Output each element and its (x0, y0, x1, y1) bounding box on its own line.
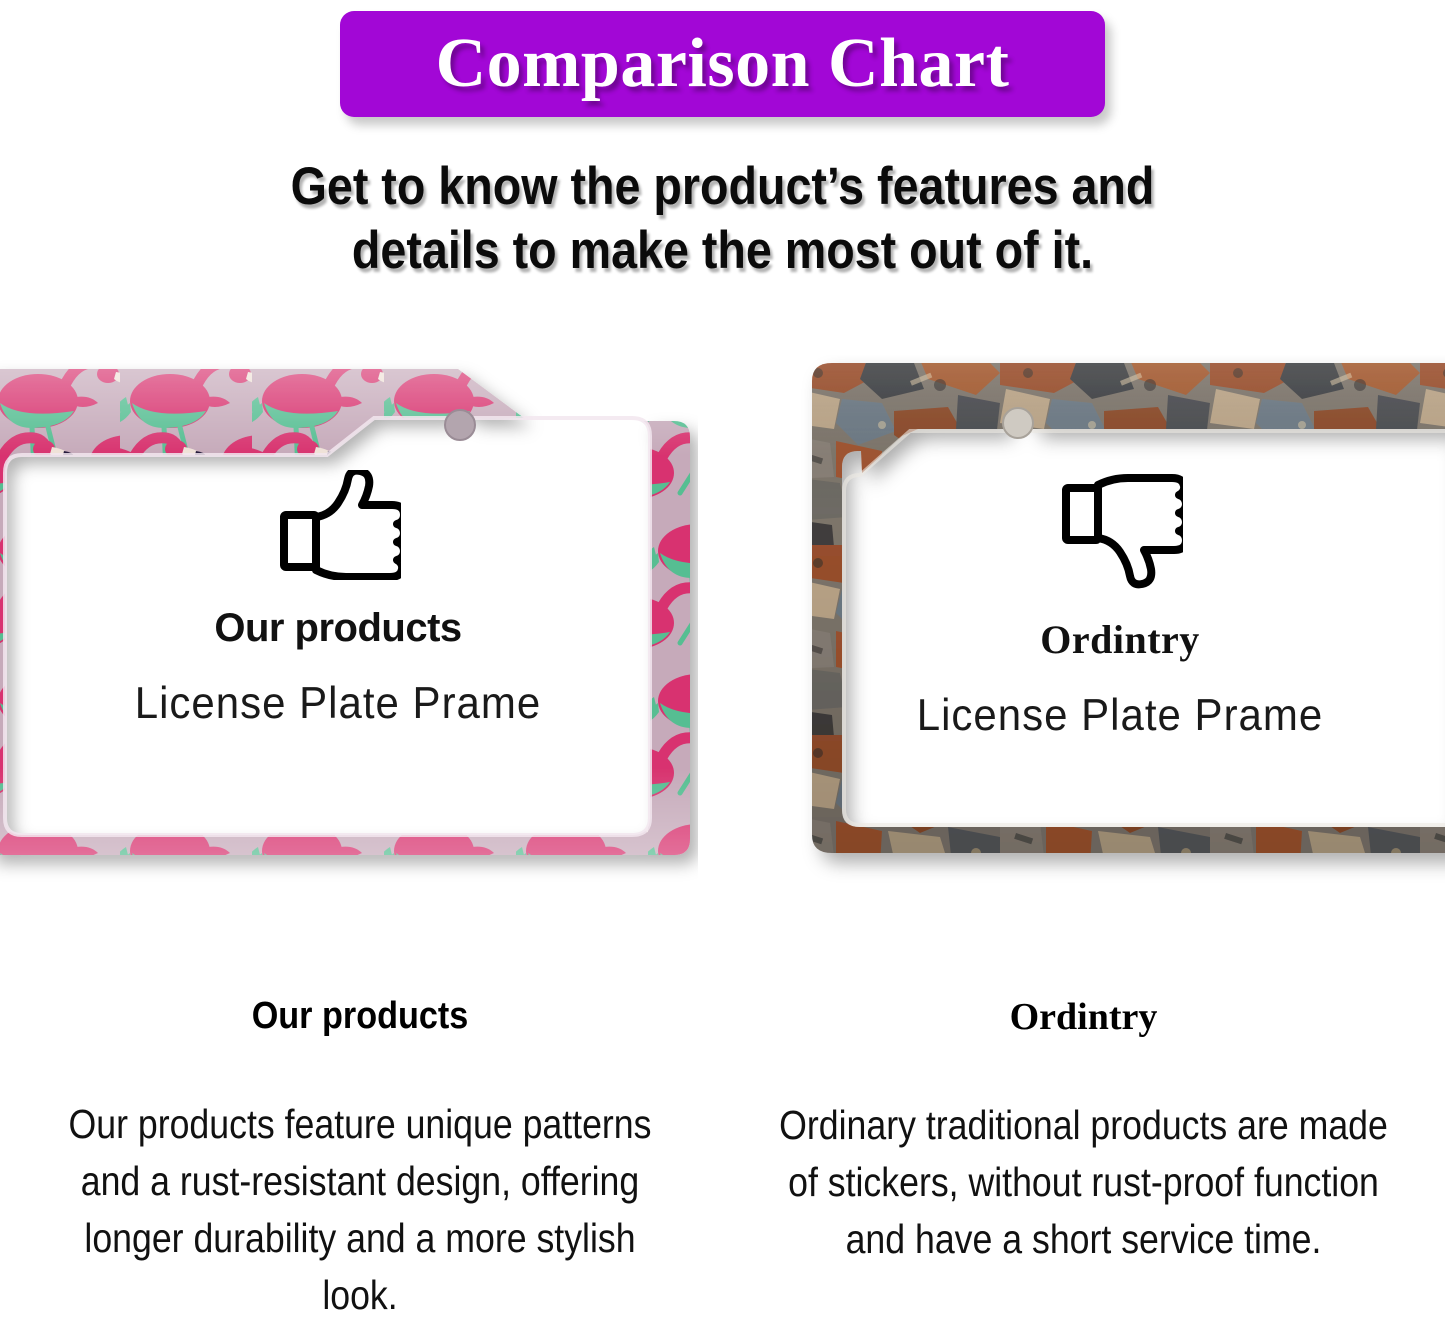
ordinary-product-frame-image (790, 355, 1445, 915)
subtitle: Get to know the product’s features and d… (87, 155, 1359, 283)
rusty-license-plate-frame (790, 355, 1445, 915)
ordinary-product-description: Ordinary traditional products are made o… (769, 1097, 1398, 1268)
our-product-description: Our products feature unique patterns and… (47, 1096, 673, 1324)
comparison-chart-banner: Comparison Chart (340, 11, 1105, 117)
ordinary-product-heading: Ordintry (722, 995, 1445, 1039)
subtitle-line-2: details to make the most out of it. (87, 219, 1359, 283)
subtitle-line-1: Get to know the product’s features and (87, 155, 1359, 219)
our-product-heading: Our products (36, 995, 684, 1038)
our-product-description-column: Our products Our products feature unique… (0, 995, 720, 1324)
our-product-frame-image (0, 355, 698, 915)
page-title: Comparison Chart (436, 24, 1010, 104)
ordinary-product-description-column: Ordintry Ordinary traditional products a… (722, 995, 1445, 1268)
flamingo-license-plate-frame (0, 355, 698, 915)
